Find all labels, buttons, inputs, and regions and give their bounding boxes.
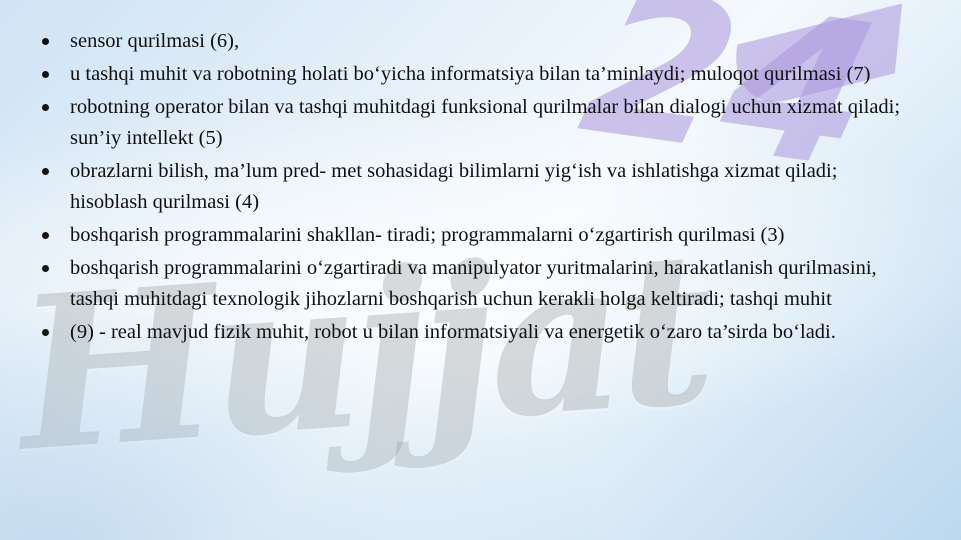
bullet-dot-icon xyxy=(42,265,49,272)
bullet-dot-icon xyxy=(42,71,49,78)
list-item-text: boshqarish programmalarini shakllan- tir… xyxy=(70,220,905,251)
bullet-dot-icon xyxy=(42,329,49,336)
bullet-list: sensor qurilmasi (6), u tashqi muhit va … xyxy=(28,26,905,348)
bullet-dot-icon xyxy=(42,168,49,175)
list-item: obrazlarni bilish, ma’lum pred- met soha… xyxy=(28,156,905,218)
list-item: u tashqi muhit va robotning holati bo‘yi… xyxy=(28,59,905,90)
bullet-dot-icon xyxy=(42,38,49,45)
list-item-text: obrazlarni bilish, ma’lum pred- met soha… xyxy=(70,156,905,218)
slide-content: sensor qurilmasi (6), u tashqi muhit va … xyxy=(0,0,961,540)
list-item: boshqarish programmalarini shakllan- tir… xyxy=(28,220,905,251)
list-item: sensor qurilmasi (6), xyxy=(28,26,905,57)
list-item-text: boshqarish programmalarini o‘zgartiradi … xyxy=(70,253,905,315)
bullet-dot-icon xyxy=(42,104,49,111)
list-item: (9) - real mavjud fizik muhit, robot u b… xyxy=(28,317,905,348)
slide-canvas: 24 Hujjat sensor qurilmasi (6), u tashqi… xyxy=(0,0,961,540)
list-item-text: u tashqi muhit va robotning holati bo‘yi… xyxy=(70,59,905,90)
list-item-text: robotning operator bilan va tashqi muhit… xyxy=(70,92,905,154)
bullet-dot-icon xyxy=(42,232,49,239)
list-item: robotning operator bilan va tashqi muhit… xyxy=(28,92,905,154)
list-item: boshqarish programmalarini o‘zgartiradi … xyxy=(28,253,905,315)
list-item-text: (9) - real mavjud fizik muhit, robot u b… xyxy=(70,317,905,348)
list-item-text: sensor qurilmasi (6), xyxy=(70,26,905,57)
